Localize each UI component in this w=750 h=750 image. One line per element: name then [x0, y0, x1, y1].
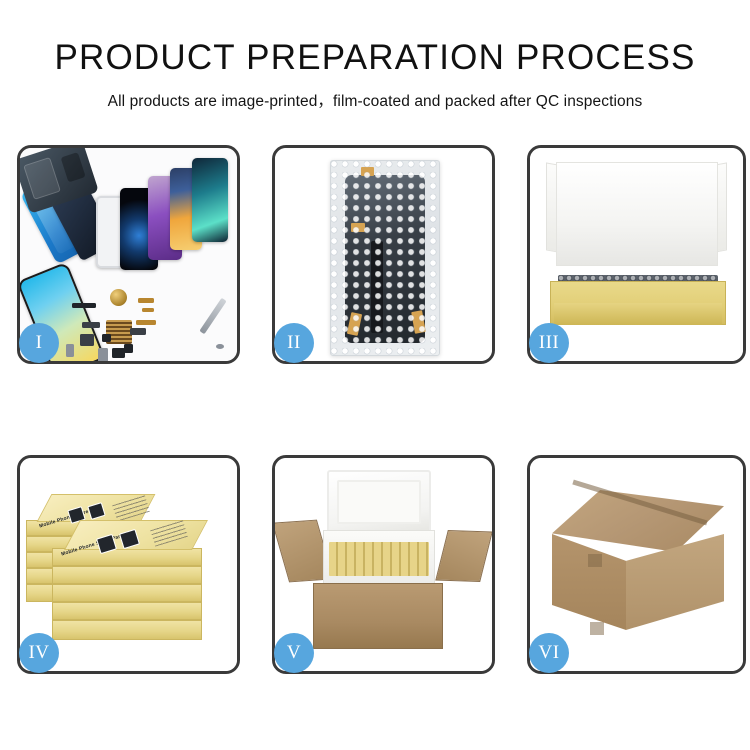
step-5-badge: V — [274, 633, 314, 673]
flex-cable — [371, 241, 383, 333]
page-subtitle: All products are image-printed，film-coat… — [0, 89, 750, 111]
stack-front-3 — [52, 584, 202, 602]
step-2-badge: II — [274, 323, 314, 363]
step-1-badge: I — [19, 323, 59, 363]
tape-top — [361, 167, 374, 176]
carton-right-face — [626, 534, 724, 630]
stack-front-5 — [52, 620, 202, 640]
bubble-wrap-bag — [330, 160, 440, 356]
carton-flap-right — [435, 530, 492, 582]
carton-tab-lower — [590, 622, 604, 635]
yellow-box-front — [554, 303, 722, 325]
stack-front-2 — [52, 566, 202, 584]
screw-part — [216, 344, 224, 349]
part-block-2 — [98, 348, 108, 361]
process-step-2[interactable]: II — [272, 145, 495, 364]
process-step-grid: I II — [17, 145, 743, 674]
part-strip-3 — [142, 308, 154, 312]
phone-teal — [192, 158, 228, 242]
part-strip-6 — [136, 320, 156, 325]
stack-front-4 — [52, 602, 202, 620]
process-step-3[interactable]: III — [527, 145, 746, 364]
foam-lid-panel — [556, 162, 718, 266]
part-block-5 — [66, 344, 74, 357]
carton-tab-upper — [588, 554, 602, 567]
part-strip-4 — [82, 322, 100, 328]
carton-left-face — [552, 534, 626, 630]
speaker-part — [110, 289, 127, 306]
yellow-boxes-inside — [329, 542, 429, 576]
part-block-1 — [80, 334, 94, 346]
tape-mid — [351, 223, 365, 232]
step-3-badge: III — [529, 323, 569, 363]
carton-body — [313, 583, 443, 649]
product-preparation-infographic: PRODUCT PREPARATION PROCESS All products… — [0, 0, 750, 750]
part-block-6 — [102, 334, 111, 342]
process-step-6[interactable]: VI — [527, 455, 746, 674]
part-strip-1 — [72, 303, 96, 308]
process-step-5[interactable]: V — [272, 455, 495, 674]
process-step-1[interactable]: I — [17, 145, 240, 364]
header: PRODUCT PREPARATION PROCESS All products… — [0, 0, 750, 111]
part-block-4 — [124, 344, 133, 353]
step-6-badge: VI — [529, 633, 569, 673]
page-title: PRODUCT PREPARATION PROCESS — [0, 38, 750, 78]
step-4-badge: IV — [19, 633, 59, 673]
process-step-4[interactable]: Mobile Phone Spare Parts Mobile Phone Sp… — [17, 455, 240, 674]
part-strip-2 — [138, 298, 154, 303]
styrofoam-lid — [327, 470, 431, 534]
screwdriver-tool — [199, 298, 226, 335]
part-strip-5 — [130, 328, 146, 335]
